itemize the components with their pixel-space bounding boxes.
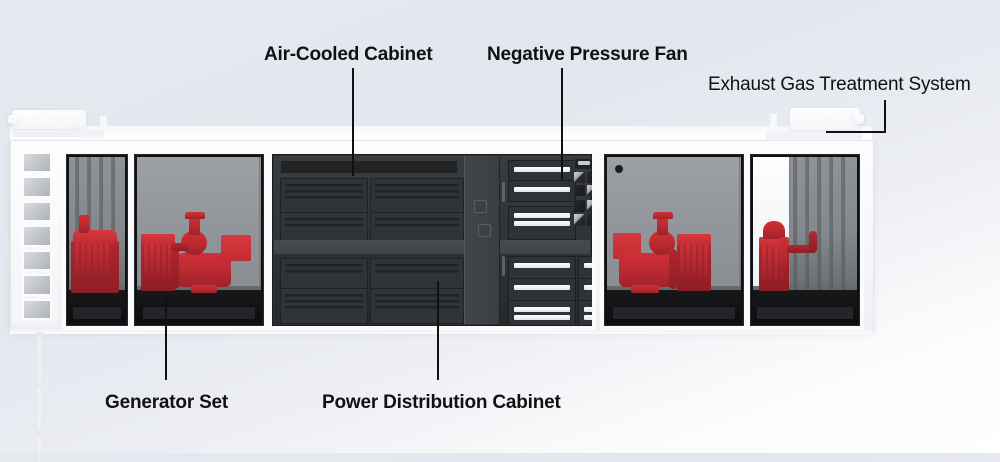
fan-housing-top <box>574 158 596 170</box>
louver-group <box>370 178 464 214</box>
slat-group <box>578 300 596 326</box>
vent-cell <box>22 299 52 320</box>
callout-label-power-distribution-cabinet: Power Distribution Cabinet <box>322 392 561 414</box>
vent-cell <box>22 225 52 246</box>
slat-group <box>508 180 576 202</box>
door-handle-upper[interactable] <box>474 200 487 213</box>
slat-group <box>578 256 596 280</box>
diagram-canvas: Air-Cooled Cabinet Negative Pressure Fan… <box>0 0 1000 453</box>
slat-group <box>508 300 576 326</box>
callout-label-negative-pressure-fan: Negative Pressure Fan <box>487 44 688 66</box>
leader-line-exhaust-horizontal <box>826 131 886 133</box>
leader-line-air-cooled-cabinet <box>352 68 354 176</box>
upper-intake-bar <box>280 160 458 174</box>
negative-pressure-fan-grille-upper <box>574 172 596 196</box>
door-handle-lower[interactable] <box>478 224 491 237</box>
generator-bay-2 <box>130 150 268 330</box>
leader-line-exhaust-vertical <box>884 100 886 133</box>
ventilation-and-fan-panel[interactable] <box>500 156 590 324</box>
generator-set-unit <box>141 183 261 293</box>
louver-group <box>280 178 368 214</box>
generator-bay-4 <box>746 150 864 330</box>
callout-label-generator-set: Generator Set <box>105 392 228 414</box>
louver-group <box>280 258 368 290</box>
louver-group <box>370 258 464 290</box>
generator-set-unit <box>755 189 835 293</box>
end-vent-panel <box>22 152 52 320</box>
vent-cell <box>22 176 52 197</box>
center-cabinet-bank <box>268 150 596 330</box>
vent-cell <box>22 152 52 173</box>
callout-label-exhaust-gas-treatment-system: Exhaust Gas Treatment System <box>708 74 971 96</box>
callout-label-air-cooled-cabinet: Air-Cooled Cabinet <box>264 44 432 66</box>
slat-group <box>508 256 576 280</box>
vent-cell <box>22 274 52 295</box>
slat-group <box>578 278 596 302</box>
louver-group <box>370 288 464 324</box>
power-distribution-cabinet-door[interactable] <box>464 156 500 324</box>
leader-line-negative-pressure-fan <box>561 68 563 180</box>
louver-group <box>280 288 368 324</box>
leader-line-power-distribution-cabinet <box>437 281 439 380</box>
exhaust-gas-treatment-unit-right <box>762 108 882 144</box>
slat-group <box>508 206 576 240</box>
vent-cell <box>22 250 52 271</box>
vent-cell <box>22 201 52 222</box>
generator-bay-1 <box>62 150 132 330</box>
negative-pressure-fan-grille-lower <box>574 200 596 226</box>
slat-group <box>508 160 576 182</box>
door-latch-rod <box>38 326 41 462</box>
generator-bay-3 <box>600 150 748 330</box>
generator-set-unit <box>613 183 739 293</box>
air-cooled-cabinet-panel[interactable] <box>274 156 464 324</box>
leader-line-generator-set <box>165 296 167 380</box>
generator-set-unit <box>69 197 125 293</box>
exhaust-gas-treatment-unit-left <box>8 108 118 142</box>
slat-group <box>508 278 576 302</box>
